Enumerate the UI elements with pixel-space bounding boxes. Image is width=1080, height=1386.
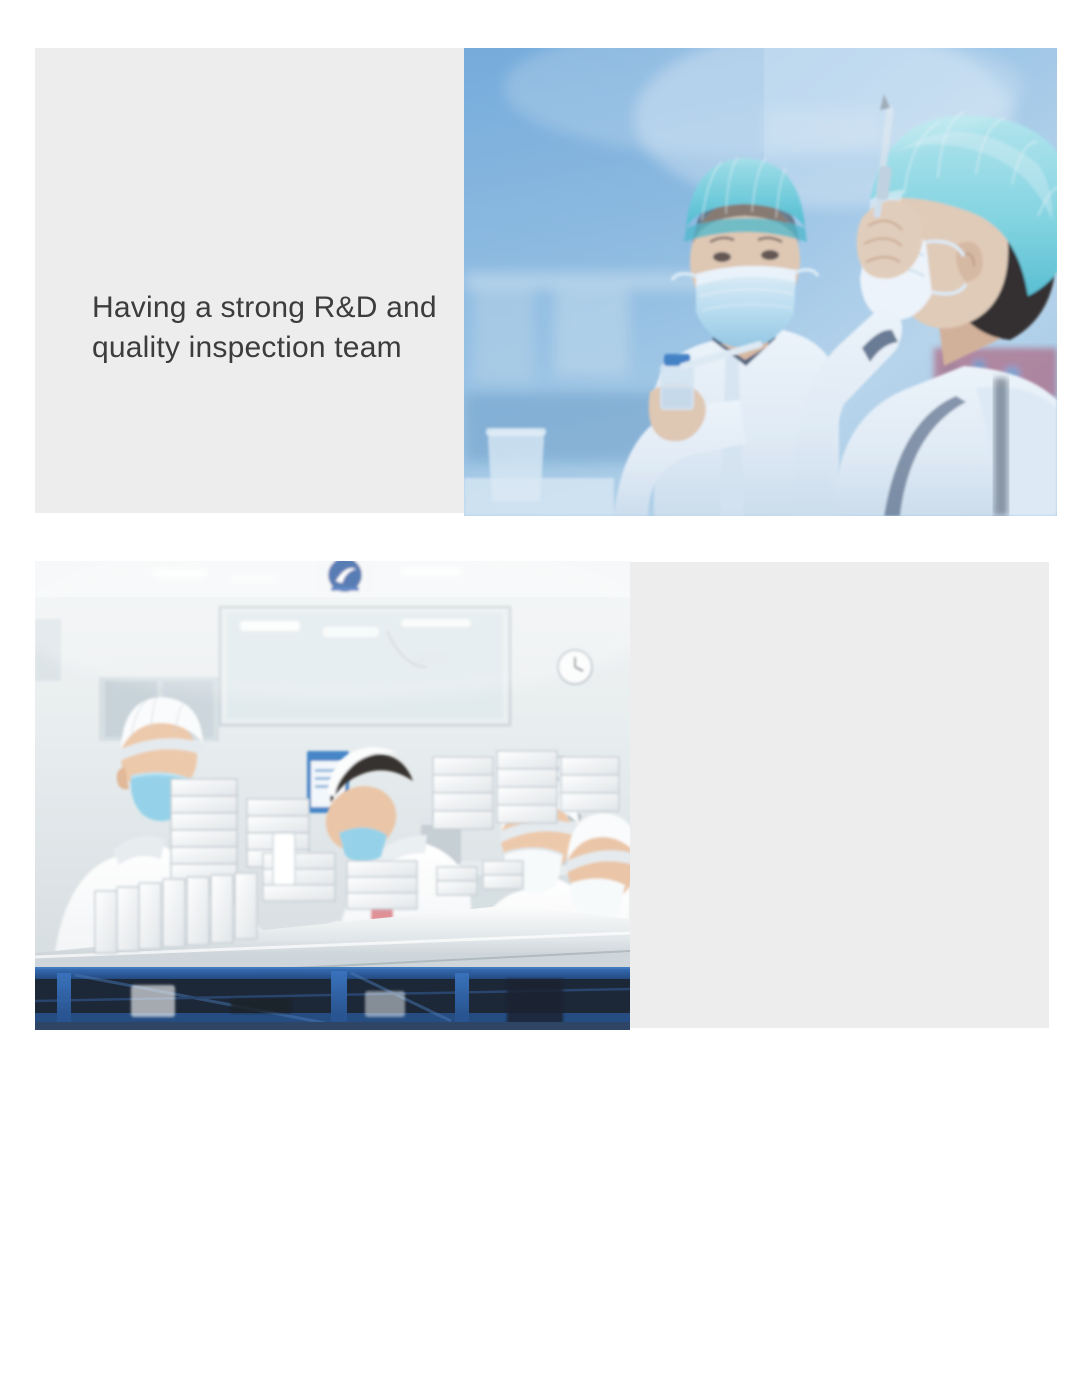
lab-technicians-illustration — [464, 48, 1057, 516]
page-root: Having a strong R&D and quality inspecti… — [0, 0, 1080, 1080]
top-caption-text: Having a strong R&D and quality inspecti… — [92, 288, 492, 368]
lab-technicians-photo — [464, 48, 1057, 516]
cleanroom-packing-photo — [35, 561, 630, 1030]
top-caption-panel: Having a strong R&D and quality inspecti… — [35, 48, 477, 513]
cleanroom-packing-illustration — [35, 561, 630, 1030]
